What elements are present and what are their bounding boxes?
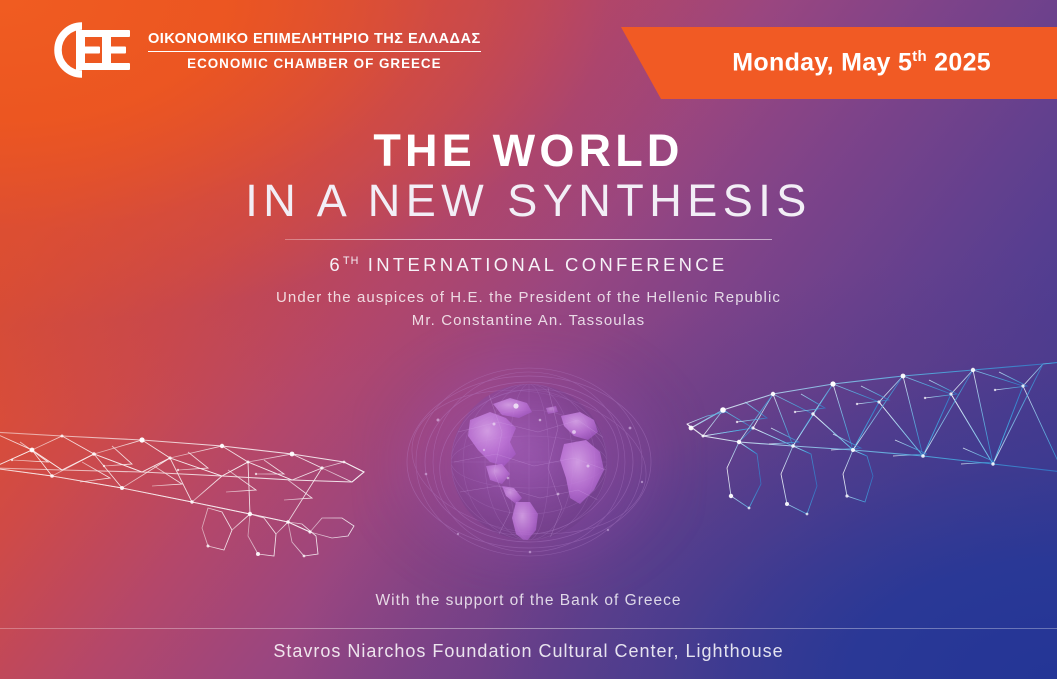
auspices-line-1: Under the auspices of H.E. the President… bbox=[0, 286, 1057, 309]
auspices-block: Under the auspices of H.E. the President… bbox=[0, 286, 1057, 333]
conference-title-block: THE WORLD IN A NEW SYNTHESIS 6TH INTERNA… bbox=[0, 128, 1057, 276]
event-date-weekday: Monday, May 5 bbox=[732, 49, 912, 77]
cee-logo: ΟΙΚΟΝΟΜΙΚΟ ΕΠΙΜΕΛΗΤΗΡΙΟ ΤΗΣ ΕΛΛΑΔΑΣ ECON… bbox=[46, 22, 481, 78]
footer-divider bbox=[0, 628, 1057, 629]
title-line-2: IN A NEW SYNTHESIS bbox=[0, 176, 1057, 226]
event-date-banner: Monday, May 5th 2025 bbox=[615, 27, 1057, 99]
title-line-1: THE WORLD bbox=[0, 128, 1057, 174]
event-date-year: 2025 bbox=[927, 49, 991, 77]
conference-poster: ΟΙΚΟΝΟΜΙΚΟ ΕΠΙΜΕΛΗΤΗΡΙΟ ΤΗΣ ΕΛΛΑΔΑΣ ECON… bbox=[0, 0, 1057, 679]
venue-text: Stavros Niarchos Foundation Cultural Cen… bbox=[0, 641, 1057, 662]
edition-number: 6 bbox=[329, 254, 343, 275]
event-date-text: Monday, May 5th 2025 bbox=[732, 48, 1057, 77]
wireframe-hand-right-icon bbox=[683, 350, 1057, 545]
conference-subtitle: 6TH INTERNATIONAL CONFERENCE bbox=[0, 254, 1057, 276]
hand-left-svg bbox=[0, 410, 377, 575]
wireframe-globe-icon bbox=[398, 362, 660, 562]
cee-logo-mark bbox=[46, 22, 138, 78]
hand-right-svg bbox=[683, 350, 1057, 545]
subtitle-text: INTERNATIONAL CONFERENCE bbox=[359, 254, 727, 275]
cee-logo-wordmark: ΟΙΚΟΝΟΜΙΚΟ ΕΠΙΜΕΛΗΤΗΡΙΟ ΤΗΣ ΕΛΛΑΔΑΣ ECON… bbox=[148, 30, 481, 70]
support-text: With the support of the Bank of Greece bbox=[0, 592, 1057, 610]
chamber-name-english: ECONOMIC CHAMBER OF GREECE bbox=[148, 52, 481, 70]
globe-glow bbox=[358, 322, 700, 602]
chamber-name-greek: ΟΙΚΟΝΟΜΙΚΟ ΕΠΙΜΕΛΗΤΗΡΙΟ ΤΗΣ ΕΛΛΑΔΑΣ bbox=[148, 32, 481, 52]
event-date-ordinal: th bbox=[912, 48, 927, 65]
title-divider bbox=[285, 239, 772, 240]
wireframe-hand-left-icon bbox=[0, 410, 377, 575]
edition-ordinal: TH bbox=[343, 255, 359, 267]
cee-logo-svg bbox=[46, 22, 138, 78]
auspices-line-2: Mr. Constantine An. Tassoulas bbox=[0, 309, 1057, 332]
